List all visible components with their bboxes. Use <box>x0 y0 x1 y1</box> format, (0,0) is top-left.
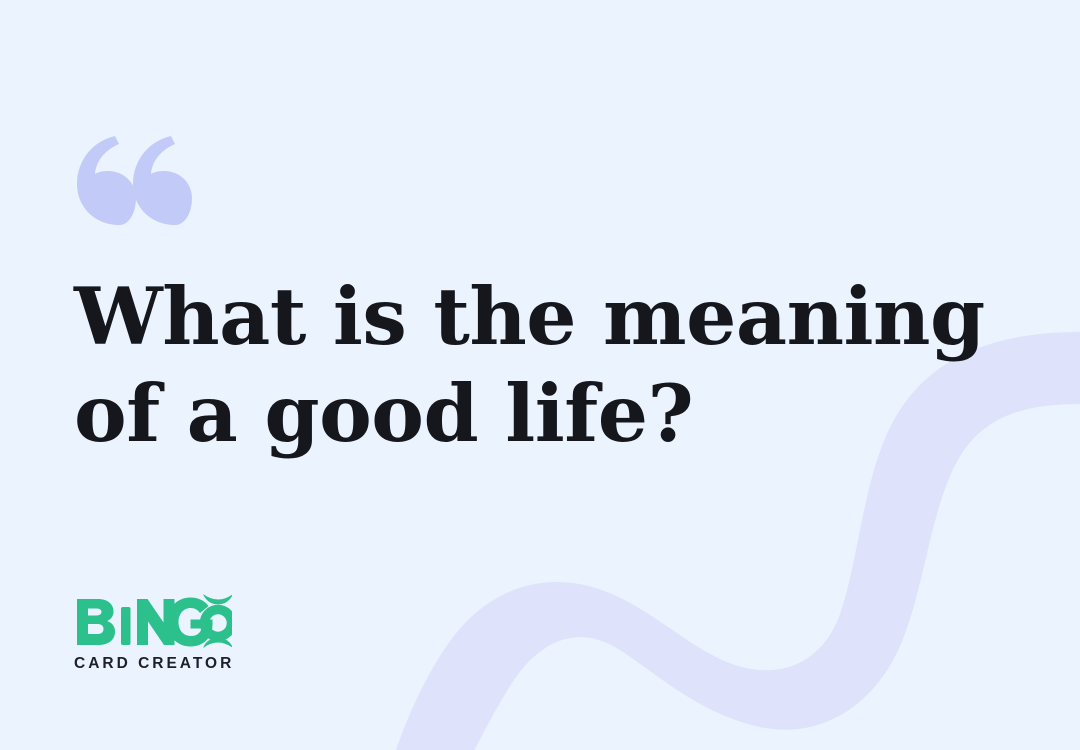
quote-mark-left-glyph <box>77 136 136 225</box>
bingo-wordmark-icon <box>74 592 232 650</box>
logo-letter-b <box>77 599 115 645</box>
logo-letter-i <box>121 607 131 645</box>
quote-mark-icon <box>72 135 192 225</box>
logo-letter-o-ring <box>205 610 232 637</box>
logo-o-arc-top <box>203 594 232 604</box>
quote-text: What is the meaning of a good life? <box>74 268 1004 462</box>
quote-mark-right-glyph <box>133 136 192 225</box>
logo-tagline: CARD CREATOR <box>74 656 234 672</box>
bingo-card-creator-logo[interactable]: CARD CREATOR <box>74 592 234 672</box>
quote-card: What is the meaning of a good life? CAR <box>0 0 1080 750</box>
